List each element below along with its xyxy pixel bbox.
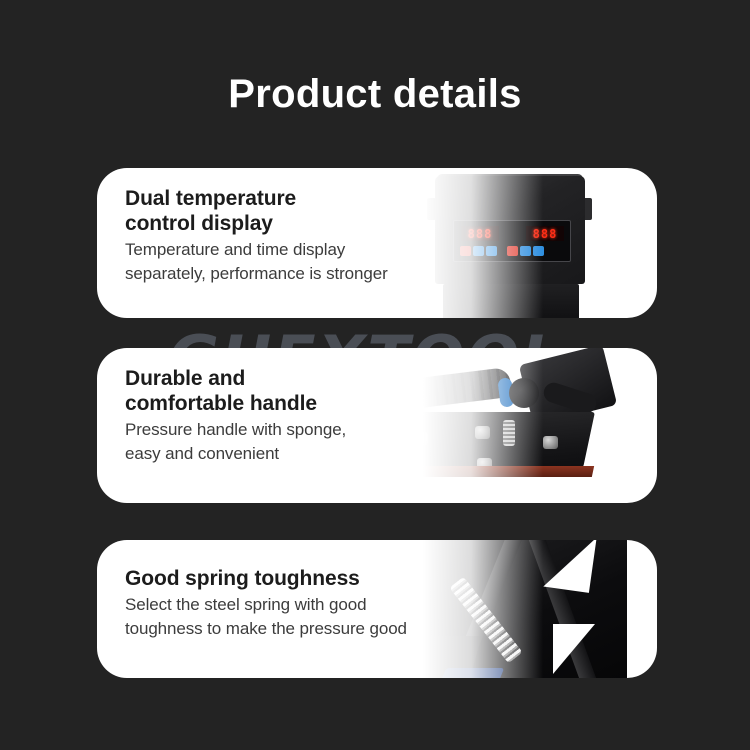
feature-heading: Durable and comfortable handle (125, 366, 427, 416)
feature-body: Select the steel spring with good toughn… (125, 593, 497, 641)
feature-card-spring-toughness[interactable]: Good spring toughness Select the steel s… (97, 540, 657, 678)
feature-text-block: Dual temperature control display Tempera… (97, 168, 427, 318)
feature-body: Pressure handle with sponge, easy and co… (125, 418, 427, 466)
feature-heading: Good spring toughness (125, 566, 497, 591)
feature-card-comfortable-handle[interactable]: Durable and comfortable handle Pressure … (97, 348, 657, 503)
feature-heading: Dual temperature control display (125, 186, 427, 236)
feature-card-dual-temperature-control[interactable]: 888 888 D (97, 168, 657, 318)
page-title: Product details (0, 72, 750, 117)
feature-text-block: Good spring toughness Select the steel s… (97, 540, 497, 678)
feature-body: Temperature and time display separately,… (125, 238, 427, 286)
feature-text-block: Durable and comfortable handle Pressure … (97, 348, 427, 503)
